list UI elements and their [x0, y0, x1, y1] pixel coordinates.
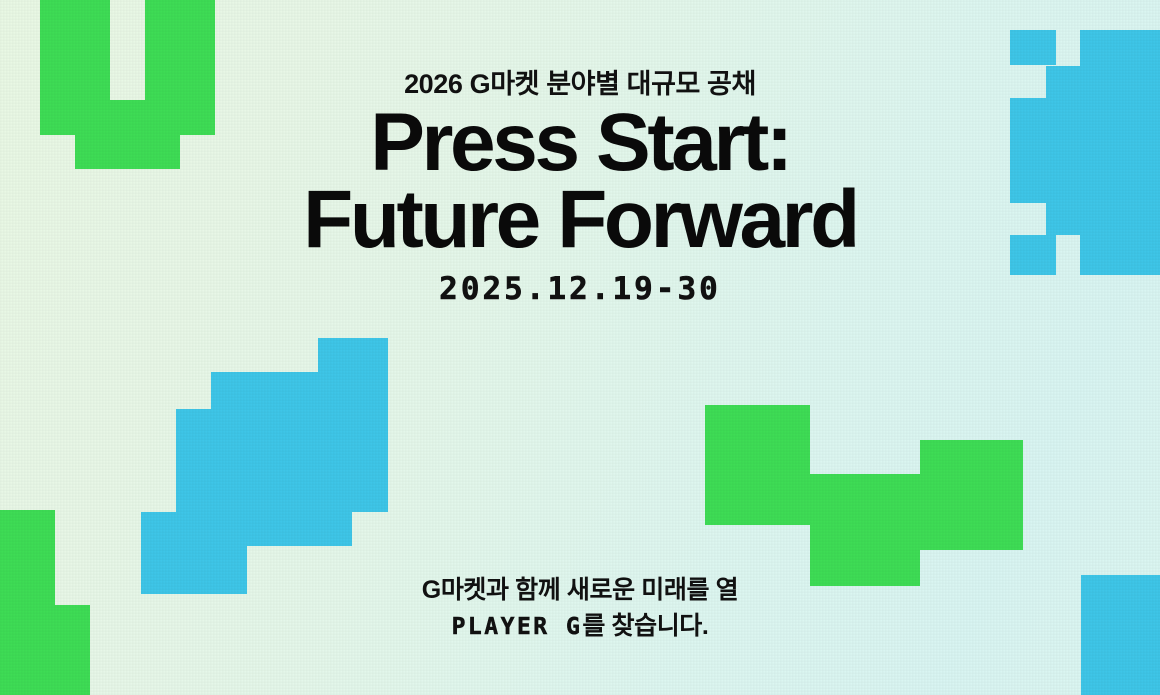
player-g-label: PLAYER G [452, 614, 583, 640]
eyebrow-text: 2026 G마켓 분야별 대규모 공채 [0, 62, 1160, 101]
headline: Press Start: Future Forward [0, 104, 1160, 258]
poster-text-layer: 2026 G마켓 분야별 대규모 공채 Press Start: Future … [0, 0, 1160, 695]
recruitment-poster: 2026 G마켓 분야별 대규모 공채 Press Start: Future … [0, 0, 1160, 695]
footer-text: G마켓과 함께 새로운 미래를 열 PLAYER G를 찾습니다. [0, 572, 1160, 645]
date-range-text: 2025.12.19-30 [0, 271, 1160, 307]
footer-line-2-suffix: 를 찾습니다. [582, 612, 708, 640]
footer-line-2: PLAYER G를 찾습니다. [0, 608, 1160, 644]
footer-line-1: G마켓과 함께 새로운 미래를 열 [0, 572, 1160, 608]
headline-line-2: Future Forward [0, 181, 1160, 258]
